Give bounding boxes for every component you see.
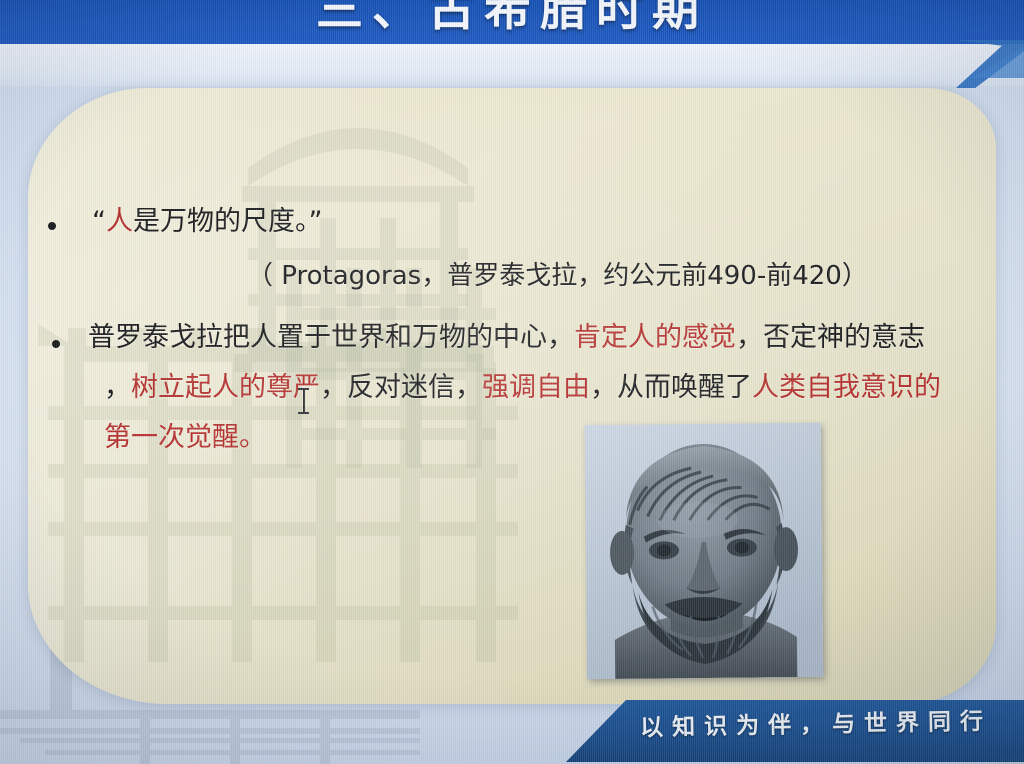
- panel-sheen: [28, 88, 996, 704]
- content-panel: [28, 88, 996, 704]
- gateway-watermark-icon: [208, 98, 508, 428]
- title-band: 三、古希腊时期: [0, 0, 1024, 44]
- footer-banner-text: 以知识为伴，与世界同行: [640, 702, 993, 743]
- building-blocks-watermark-icon: [286, 268, 546, 488]
- colonnade-watermark-icon: [28, 306, 568, 704]
- page-title: 三、古希腊时期: [0, 0, 1024, 39]
- projected-slide: 三、古希腊时期: [0, 0, 1024, 764]
- philosopher-bust-image: [585, 423, 824, 679]
- title-underband: [0, 44, 1024, 86]
